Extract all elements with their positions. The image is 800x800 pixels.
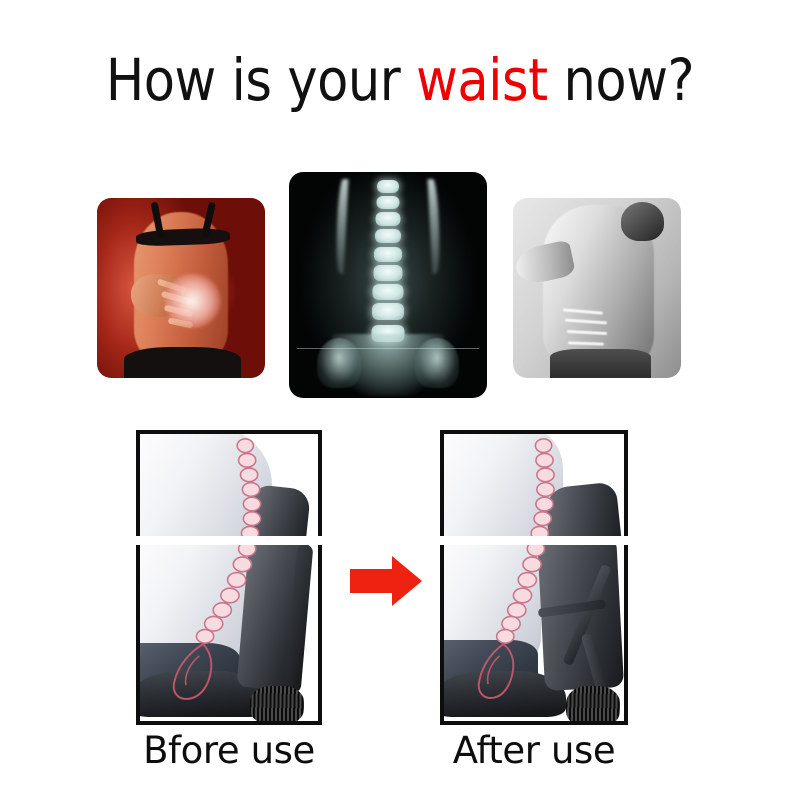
coil-tube — [250, 686, 303, 721]
vertebra — [372, 303, 404, 320]
xray-reference-line — [297, 348, 479, 349]
photo-back-pain-female — [97, 198, 265, 378]
spine-column — [371, 177, 405, 353]
before-lower-image — [140, 544, 318, 721]
vertebra — [375, 229, 401, 243]
comparison-frame-before — [136, 430, 322, 725]
after-upper-image — [444, 434, 624, 536]
vertebra — [377, 180, 399, 193]
male-shorts — [550, 349, 651, 378]
photo-back-pain-male — [513, 198, 681, 378]
vertebra — [374, 247, 402, 262]
red-arrow-icon — [348, 553, 424, 609]
vertebra — [373, 284, 404, 300]
cushion-upper — [246, 484, 311, 536]
vertebra — [374, 265, 403, 281]
coil-tube — [566, 686, 620, 721]
photo-lumbar-xray — [289, 172, 487, 398]
pain-glow — [164, 274, 221, 328]
comparison-frame-after — [440, 430, 628, 725]
vertebra — [377, 196, 400, 209]
before-upper-image — [140, 434, 318, 536]
waistband — [124, 347, 242, 378]
rib-shadow-right — [428, 179, 442, 274]
vertebra — [376, 212, 401, 226]
after-lower-image — [444, 544, 624, 721]
frame-divider-after — [440, 536, 628, 545]
cushion-upper — [544, 481, 624, 536]
caption-before-use: Bfore use — [136, 729, 322, 772]
pelvis-wing-right — [415, 338, 459, 388]
male-head — [621, 202, 665, 242]
frame-divider-before — [136, 536, 322, 545]
shirt-upper — [444, 434, 563, 536]
pelvis-wing-left — [317, 338, 361, 388]
photo-row — [0, 0, 800, 420]
rib-shadow-left — [334, 179, 348, 274]
caption-after-use: After use — [440, 729, 628, 772]
